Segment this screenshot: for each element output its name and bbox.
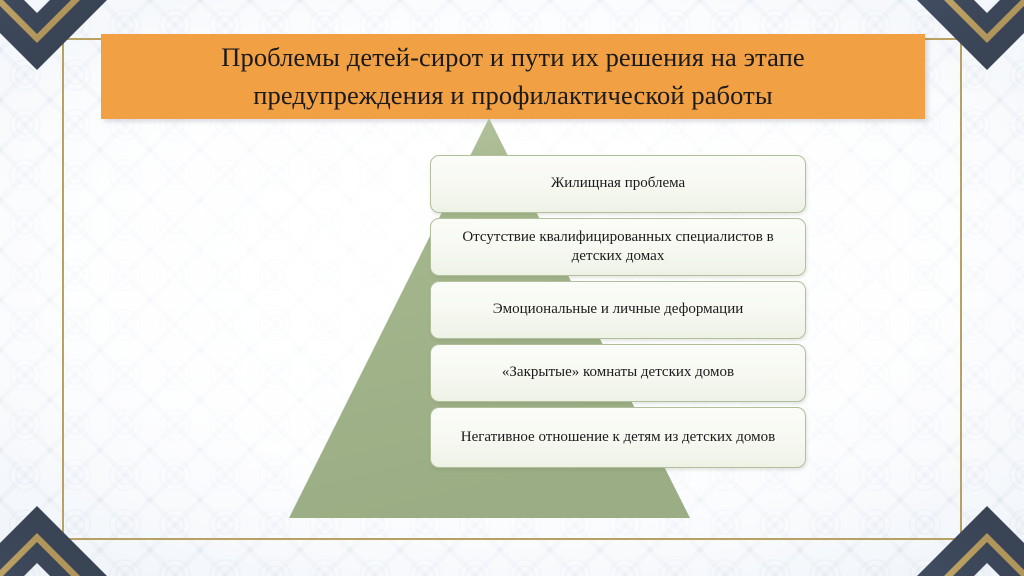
page-title: Проблемы детей-сирот и пути их решения н… [203,39,822,114]
chevron-down-icon [912,0,1024,88]
pyramid-level-item-3[interactable]: Эмоциональные и личные деформации [430,281,806,339]
chevron-up-icon [912,488,1024,576]
slide-title-banner: Проблемы детей-сирот и пути их решения н… [101,34,925,119]
pyramid-level-label: «Закрытые» комнаты детских домов [488,363,748,382]
frame-line-right [960,38,962,539]
pyramid-level-item-5[interactable]: Негативное отношение к детям из детских … [430,407,806,468]
pyramid-level-item-4[interactable]: «Закрытые» комнаты детских домов [430,344,806,402]
corner-ornament-top-left [0,0,112,88]
title-line-1: Проблемы детей-сирот и пути их решения н… [221,42,804,72]
pyramid-level-label: Негативное отношение к детям из детских … [447,428,789,447]
title-line-2: предупреждения и профилактической работы [253,80,773,110]
pyramid-level-item-2[interactable]: Отсутствие квалифицированных специалисто… [430,218,806,276]
corner-ornament-bottom-right [912,488,1024,576]
pyramid-level-item-1[interactable]: Жилищная проблема [430,155,806,213]
presentation-slide: Проблемы детей-сирот и пути их решения н… [0,0,1024,576]
pyramid-level-list: Жилищная проблема Отсутствие квалифициро… [430,155,806,473]
corner-ornament-top-right [912,0,1024,88]
chevron-up-icon [0,488,112,576]
pyramid-level-label: Жилищная проблема [537,174,699,193]
chevron-down-icon [0,0,112,88]
pyramid-level-label: Отсутствие квалифицированных специалисто… [431,228,805,266]
pyramid-level-label: Эмоциональные и личные деформации [479,300,758,319]
frame-line-left [62,38,64,539]
frame-line-bottom [62,538,962,540]
corner-ornament-bottom-left [0,488,112,576]
